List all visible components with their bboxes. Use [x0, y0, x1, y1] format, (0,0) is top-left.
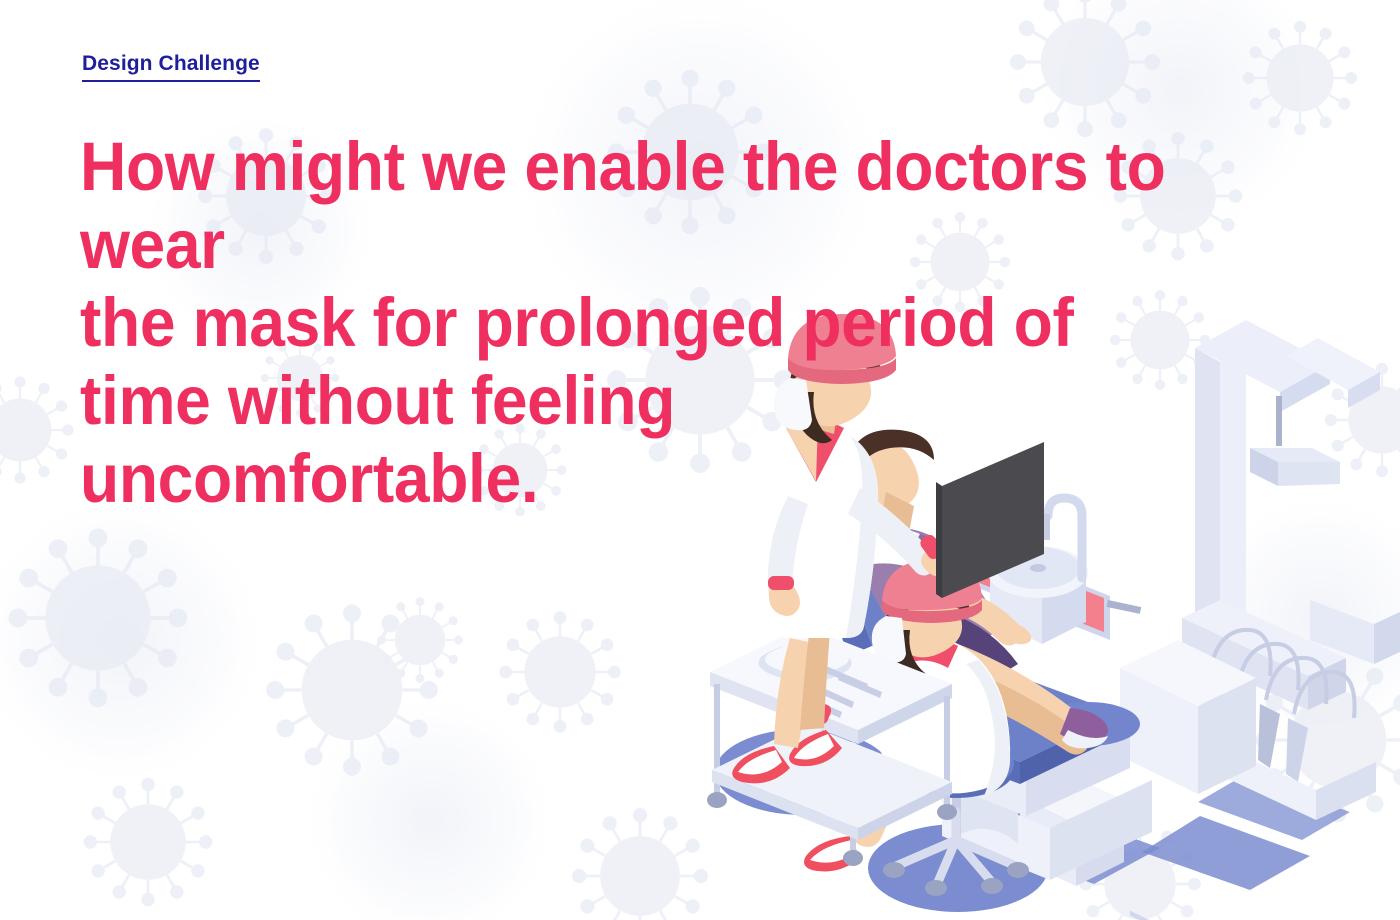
- page-title: How might we enable the doctors to wear …: [80, 128, 1243, 518]
- slide-canvas: Design Challenge How might we enable the…: [0, 0, 1400, 920]
- eyebrow-wrapper: Design Challenge: [82, 52, 260, 82]
- design-challenge-label: Design Challenge: [82, 52, 260, 82]
